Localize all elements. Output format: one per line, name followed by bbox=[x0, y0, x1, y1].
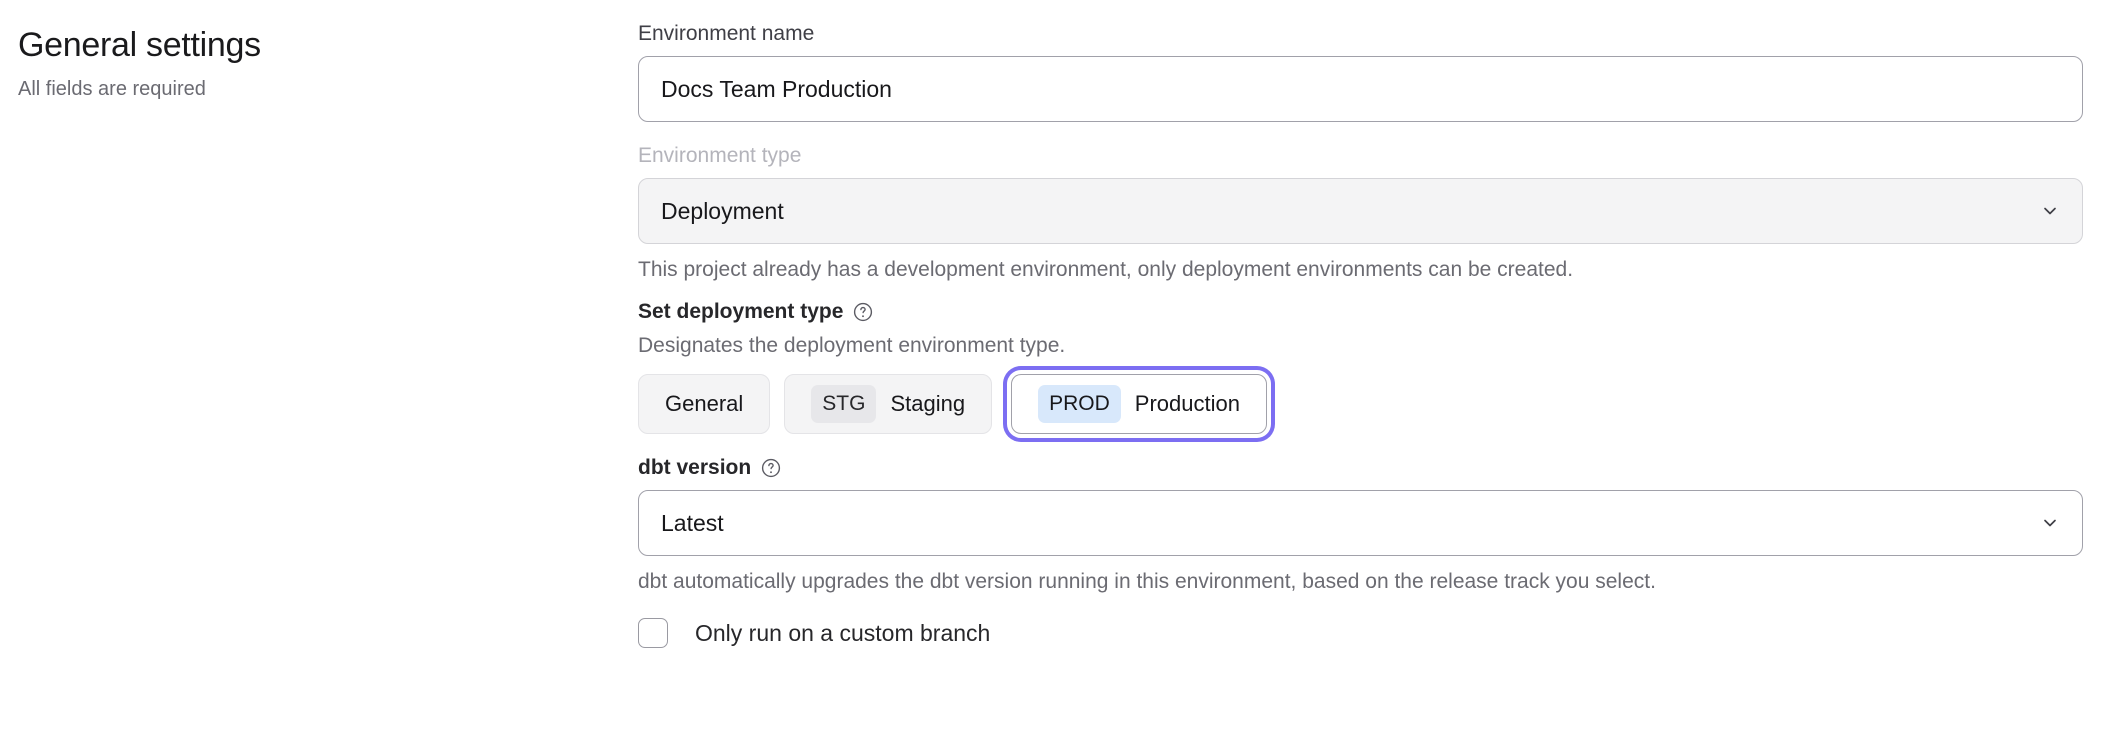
prod-badge: PROD bbox=[1038, 385, 1121, 423]
option-label: Production bbox=[1135, 390, 1240, 418]
custom-branch-label[interactable]: Only run on a custom branch bbox=[695, 618, 990, 648]
environment-name-input[interactable]: Docs Team Production bbox=[638, 56, 2083, 122]
environment-name-label: Environment name bbox=[638, 20, 2083, 48]
option-label: General bbox=[665, 390, 743, 418]
option-label: Staging bbox=[890, 390, 965, 418]
environment-type-field: Environment type Deployment This project… bbox=[638, 142, 2083, 284]
dbt-version-label: dbt version bbox=[638, 454, 751, 482]
deployment-type-label: Set deployment type bbox=[638, 298, 843, 326]
environment-type-help-text: This project already has a development e… bbox=[638, 256, 2083, 284]
general-settings-page: General settings All fields are required… bbox=[0, 0, 2110, 742]
custom-branch-row: Only run on a custom branch bbox=[638, 618, 2083, 648]
deployment-type-option-general[interactable]: General bbox=[638, 374, 770, 434]
deployment-type-label-row: Set deployment type bbox=[638, 298, 2083, 326]
settings-header: General settings All fields are required bbox=[18, 24, 578, 102]
settings-form: Environment name Docs Team Production En… bbox=[638, 20, 2083, 648]
dbt-version-field: dbt version Latest dbt automatica bbox=[638, 454, 2083, 596]
environment-type-value: Deployment bbox=[661, 196, 784, 226]
deployment-type-option-production[interactable]: PROD Production bbox=[1011, 374, 1267, 434]
dbt-version-select[interactable]: Latest bbox=[638, 490, 2083, 556]
help-circle-icon[interactable] bbox=[852, 301, 874, 323]
environment-name-value: Docs Team Production bbox=[661, 74, 892, 104]
page-subtitle: All fields are required bbox=[18, 76, 578, 102]
dbt-version-label-row: dbt version bbox=[638, 454, 2083, 482]
spacer bbox=[638, 122, 2083, 142]
deployment-type-description: Designates the deployment environment ty… bbox=[638, 332, 2083, 360]
environment-type-select[interactable]: Deployment bbox=[638, 178, 2083, 244]
environment-name-field: Environment name Docs Team Production bbox=[638, 20, 2083, 122]
stg-badge: STG bbox=[811, 385, 876, 423]
custom-branch-checkbox[interactable] bbox=[638, 618, 668, 648]
spacer bbox=[638, 434, 2083, 454]
deployment-type-option-staging[interactable]: STG Staging bbox=[784, 374, 992, 434]
help-circle-icon[interactable] bbox=[760, 457, 782, 479]
spacer bbox=[638, 284, 2083, 298]
environment-type-label: Environment type bbox=[638, 142, 2083, 170]
dbt-version-help-text: dbt automatically upgrades the dbt versi… bbox=[638, 568, 2083, 596]
dbt-version-value: Latest bbox=[661, 508, 724, 538]
page-title: General settings bbox=[18, 24, 578, 66]
deployment-type-field: Set deployment type Designates the deplo… bbox=[638, 298, 2083, 434]
deployment-type-options: General STG Staging PROD Production bbox=[638, 374, 2083, 434]
chevron-down-icon bbox=[2040, 201, 2060, 221]
chevron-down-icon bbox=[2040, 513, 2060, 533]
